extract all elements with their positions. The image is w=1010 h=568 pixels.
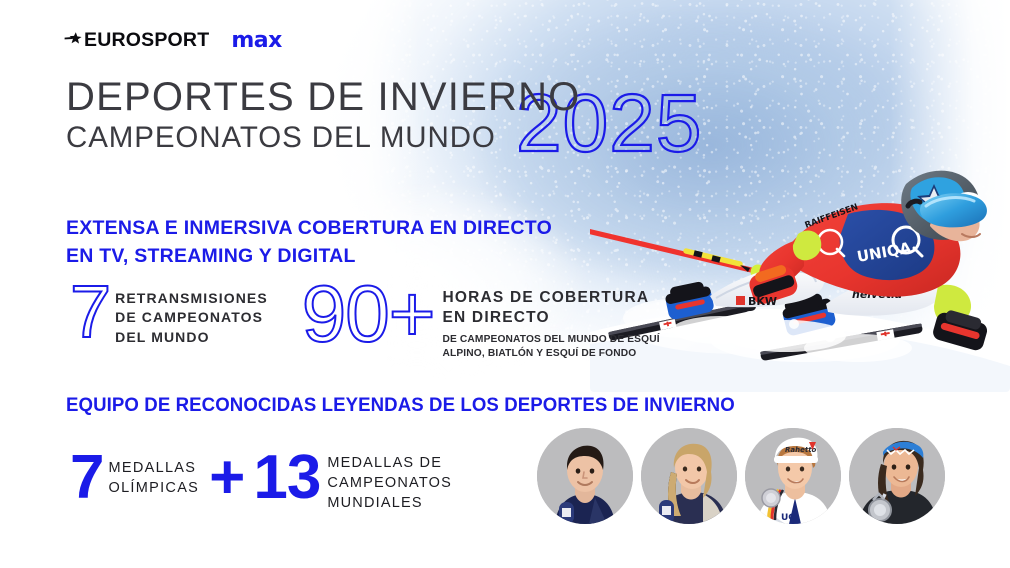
athlete-portrait-4	[849, 428, 945, 524]
stat-world-medals-label-line-1: MEDALLAS DE	[327, 453, 452, 473]
title-line-1: DEPORTES DE INVIERNO	[66, 76, 580, 118]
stat-olympic-medals-number: 7	[70, 449, 103, 508]
svg-text:UCI: UCI	[781, 513, 798, 523]
coverage-heading: EXTENSA E INMERSIVA COBERTURA EN DIRECTO…	[66, 214, 552, 270]
stat-hours-label-line-1: HORAS DE COBERTURA	[442, 288, 659, 308]
stat-hours-label: HORAS DE COBERTURA EN DIRECTO DE CAMPEON…	[442, 288, 659, 360]
stat-hours-note-line-1: DE CAMPEONATOS DEL MUNDO DE ESQUÍ	[442, 333, 659, 346]
eurosport-wordmark: EUROSPORT	[84, 31, 209, 51]
coverage-heading-line-1: EXTENSA E INMERSIVA COBERTURA EN DIRECTO	[66, 214, 552, 242]
stat-hours-label-line-2: EN DIRECTO	[442, 308, 659, 328]
brand-logo-row: EUROSPORT max	[64, 29, 282, 53]
athlete-portrait-list: Rahetto UCI	[537, 428, 945, 524]
stat-olympic-medals-label-line-2: OLÍMPICAS	[108, 479, 199, 499]
stat-broadcasts-label: RETRANSMISIONES DE CAMPEONATOS DEL MUNDO	[115, 289, 268, 347]
stat-world-medals-label-line-3: MUNDIALES	[327, 493, 452, 513]
max-logo[interactable]: max	[231, 30, 281, 52]
stat-hours: 90+ HORAS DE COBERTURA EN DIRECTO DE CAM…	[302, 283, 660, 360]
stat-olympic-medals-label: MEDALLAS OLÍMPICAS	[108, 459, 199, 498]
stat-olympic-medals-label-line-1: MEDALLAS	[108, 459, 199, 479]
stat-broadcasts-number: 7	[70, 279, 111, 344]
stat-broadcasts: 7 RETRANSMISIONES DE CAMPEONATOS DEL MUN…	[70, 283, 268, 347]
svg-text:BKW: BKW	[748, 295, 777, 308]
stat-world-medals-label: MEDALLAS DE CAMPEONATOS MUNDIALES	[327, 453, 452, 513]
title-line-2: CAMPEONATOS DEL MUNDO	[66, 121, 580, 154]
winter-sports-promo-poster: helvetia UNIQA	[0, 0, 1010, 568]
stat-world-medals: 13 MEDALLAS DE CAMPEONATOS MUNDIALES	[253, 449, 452, 513]
legends-heading: EQUIPO DE RECONOCIDAS LEYENDAS DE LOS DE…	[66, 394, 735, 417]
stat-hours-note: DE CAMPEONATOS DEL MUNDO DE ESQUÍ ALPINO…	[442, 333, 659, 360]
coverage-heading-line-2: EN TV, STREAMING Y DIGITAL	[66, 242, 552, 270]
stat-olympic-medals: 7 MEDALLAS OLÍMPICAS	[70, 449, 199, 508]
stat-broadcasts-label-line-1: RETRANSMISIONES	[115, 289, 268, 308]
coverage-stats-row: 7 RETRANSMISIONES DE CAMPEONATOS DEL MUN…	[70, 283, 660, 360]
eurosport-logo[interactable]: EUROSPORT	[64, 29, 209, 53]
stat-hours-number: 90+	[302, 279, 435, 349]
stat-broadcasts-label-line-2: DE CAMPEONATOS	[115, 308, 268, 327]
stat-broadcasts-label-line-3: DEL MUNDO	[115, 328, 268, 347]
athlete-portrait-1	[537, 428, 633, 524]
athlete-portrait-3: Rahetto UCI	[745, 428, 841, 524]
medals-stats-row: 7 MEDALLAS OLÍMPICAS + 13 MEDALLAS DE CA…	[70, 449, 452, 513]
stat-world-medals-number: 13	[253, 449, 320, 508]
shooting-star-icon	[64, 29, 83, 53]
page-title: DEPORTES DE INVIERNO CAMPEONATOS DEL MUN…	[66, 76, 580, 154]
stat-hours-note-line-2: ALPINO, BIATLÓN Y ESQUÍ DE FONDO	[442, 347, 659, 360]
medals-plus-operator: +	[209, 449, 245, 508]
stat-world-medals-label-line-2: CAMPEONATOS	[327, 473, 452, 493]
athlete-portrait-2	[641, 428, 737, 524]
